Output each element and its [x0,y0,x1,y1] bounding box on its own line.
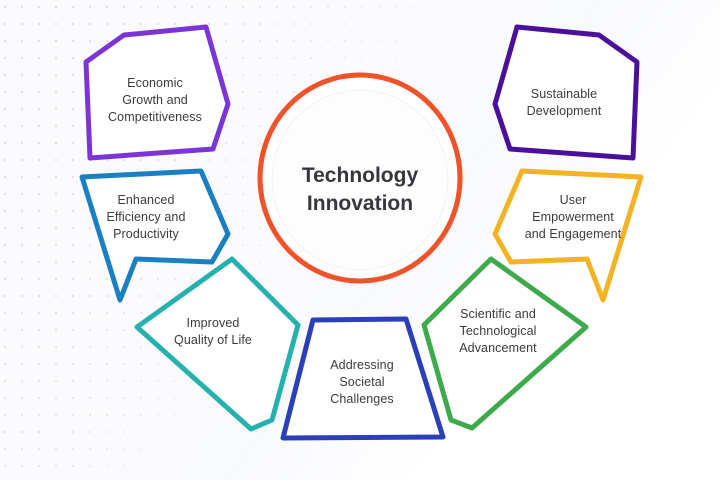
petal-economic-growth-label-1: Economic [127,76,183,90]
petal-economic-growth-label-3: Competitiveness [108,110,202,124]
petal-improved-quality-of-life-label-1: Improved [187,316,240,330]
center-title-line-1: Technology [302,164,419,187]
petal-addressing-societal-challenges[interactable]: Addressing Societal Challenges [283,319,443,438]
center-title-line-2: Innovation [307,192,413,215]
petal-economic-growth-label-2: Growth and [122,93,188,107]
petal-sustainable-development[interactable]: Sustainable Development [495,27,637,158]
diagram-canvas: Economic Growth and Competitiveness Enha… [0,0,720,480]
petal-scientific-advancement-label-2: Technological [459,324,536,338]
petal-user-empowerment-label-3: and Engagement [525,227,622,241]
petal-user-empowerment-label-2: Empowerment [532,210,614,224]
petal-sustainable-development-label-1: Sustainable [531,87,597,101]
petal-enhanced-efficiency-label-2: Efficiency and [107,210,186,224]
petal-enhanced-efficiency-label-1: Enhanced [117,193,174,207]
petal-user-empowerment-label-1: User [560,193,587,207]
petal-economic-growth[interactable]: Economic Growth and Competitiveness [86,27,228,158]
petal-scientific-advancement-label-1: Scientific and [460,307,536,321]
petal-addressing-societal-challenges-label-1: Addressing [330,358,394,372]
petal-scientific-advancement-label-3: Advancement [459,341,537,355]
petal-sustainable-development-label-2: Development [527,104,602,118]
petal-scientific-advancement[interactable]: Scientific and Technological Advancement [424,259,586,428]
petal-improved-quality-of-life-label-2: Quality of Life [174,333,252,347]
petal-addressing-societal-challenges-label-2: Societal [339,375,384,389]
center-node[interactable]: Technology Innovation [260,75,460,281]
petal-improved-quality-of-life[interactable]: Improved Quality of Life [137,259,298,429]
radial-diagram: Economic Growth and Competitiveness Enha… [0,0,720,480]
petal-enhanced-efficiency-label-3: Productivity [113,227,179,241]
petal-addressing-societal-challenges-label-3: Challenges [330,392,394,406]
